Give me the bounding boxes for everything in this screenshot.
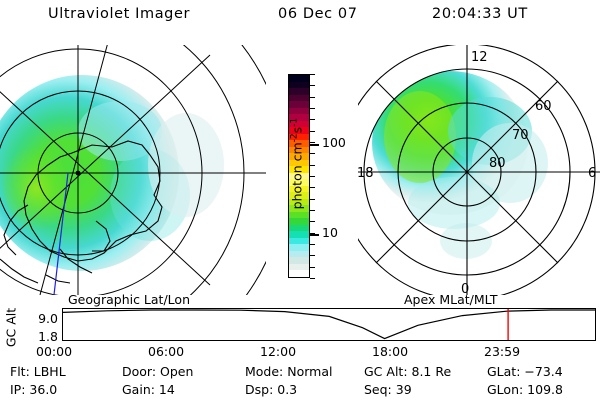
uvi-display: Ultraviolet Imager 06 Dec 07 20:04:33 UT xyxy=(0,0,600,400)
strip-ytick-low: 1.8 xyxy=(28,329,58,344)
strip-title-right: Apex MLat/MLT xyxy=(404,292,498,307)
status-ip: IP: 36.0 xyxy=(10,384,57,397)
pole-marker xyxy=(76,171,81,176)
status-gc-alt: GC Alt: 8.1 Re xyxy=(364,366,451,379)
strip-xtick-3: 18:00 xyxy=(372,344,408,359)
status-gain: Gain: 14 xyxy=(122,384,175,397)
status-block: Flt: LBHL Door: Open Mode: Normal GC Alt… xyxy=(0,364,600,400)
mlat-label-60: 60 xyxy=(535,99,552,114)
strip-xtick-0: 00:00 xyxy=(36,344,72,359)
instrument-title: Ultraviolet Imager xyxy=(48,6,190,22)
mlat-label-80: 80 xyxy=(489,156,506,171)
strip-ytick-high: 9.0 xyxy=(28,311,58,326)
altitude-polyline xyxy=(63,310,595,339)
cbar-title-main: photon cm xyxy=(290,142,305,209)
strip-plot-area[interactable] xyxy=(62,308,596,341)
strip-xtick-4: 23:59 xyxy=(484,344,520,359)
colorbar-band xyxy=(289,270,309,277)
geographic-plot xyxy=(0,45,266,295)
strip-chart[interactable]: Geographic Lat/Lon Apex MLat/MLT GC Alt … xyxy=(0,292,600,358)
colorbar-group: 100 10 photon cm-2s-1 xyxy=(268,60,360,295)
colorbar-tick-label-10: 10 xyxy=(322,227,338,240)
strip-y-axis-label: GC Alt xyxy=(4,303,19,353)
observation-date: 06 Dec 07 xyxy=(278,6,358,22)
status-glon: GLon: 109.8 xyxy=(487,384,563,397)
strip-xtick-1: 06:00 xyxy=(148,344,184,359)
header-bar: Ultraviolet Imager 06 Dec 07 20:04:33 UT xyxy=(0,6,600,30)
status-glat: GLat: −73.4 xyxy=(487,366,563,379)
mlt-polar-plot: 12 18 6 0 60 70 80 xyxy=(358,45,600,295)
altitude-trace xyxy=(63,309,595,340)
strip-xtick-2: 12:00 xyxy=(260,344,296,359)
mlt-dial-panel[interactable]: 12 18 6 0 60 70 80 xyxy=(358,45,600,295)
status-flt: Flt: LBHL xyxy=(10,366,66,379)
cbar-title-mid: s xyxy=(290,127,305,134)
mlat-label-70: 70 xyxy=(512,128,529,143)
mlt-label-12: 12 xyxy=(471,50,488,65)
colorbar-axis-title: photon cm-2s-1 xyxy=(289,89,304,239)
status-dsp: Dsp: 0.3 xyxy=(245,384,297,397)
colorbar-ticks xyxy=(310,74,318,278)
status-seq: Seq: 39 xyxy=(364,384,412,397)
mlt-label-18: 18 xyxy=(358,166,374,181)
observation-time: 20:04:33 UT xyxy=(432,6,528,22)
mlt-label-6: 6 xyxy=(588,166,596,181)
cbar-title-sup2: -1 xyxy=(289,118,299,127)
strip-title-left: Geographic Lat/Lon xyxy=(68,292,190,307)
colorbar-tick-label-100: 100 xyxy=(322,137,346,150)
geographic-image-panel[interactable] xyxy=(0,45,266,295)
cbar-title-sup1: -2 xyxy=(289,133,299,142)
status-door: Door: Open xyxy=(122,366,193,379)
status-mode: Mode: Normal xyxy=(245,366,332,379)
